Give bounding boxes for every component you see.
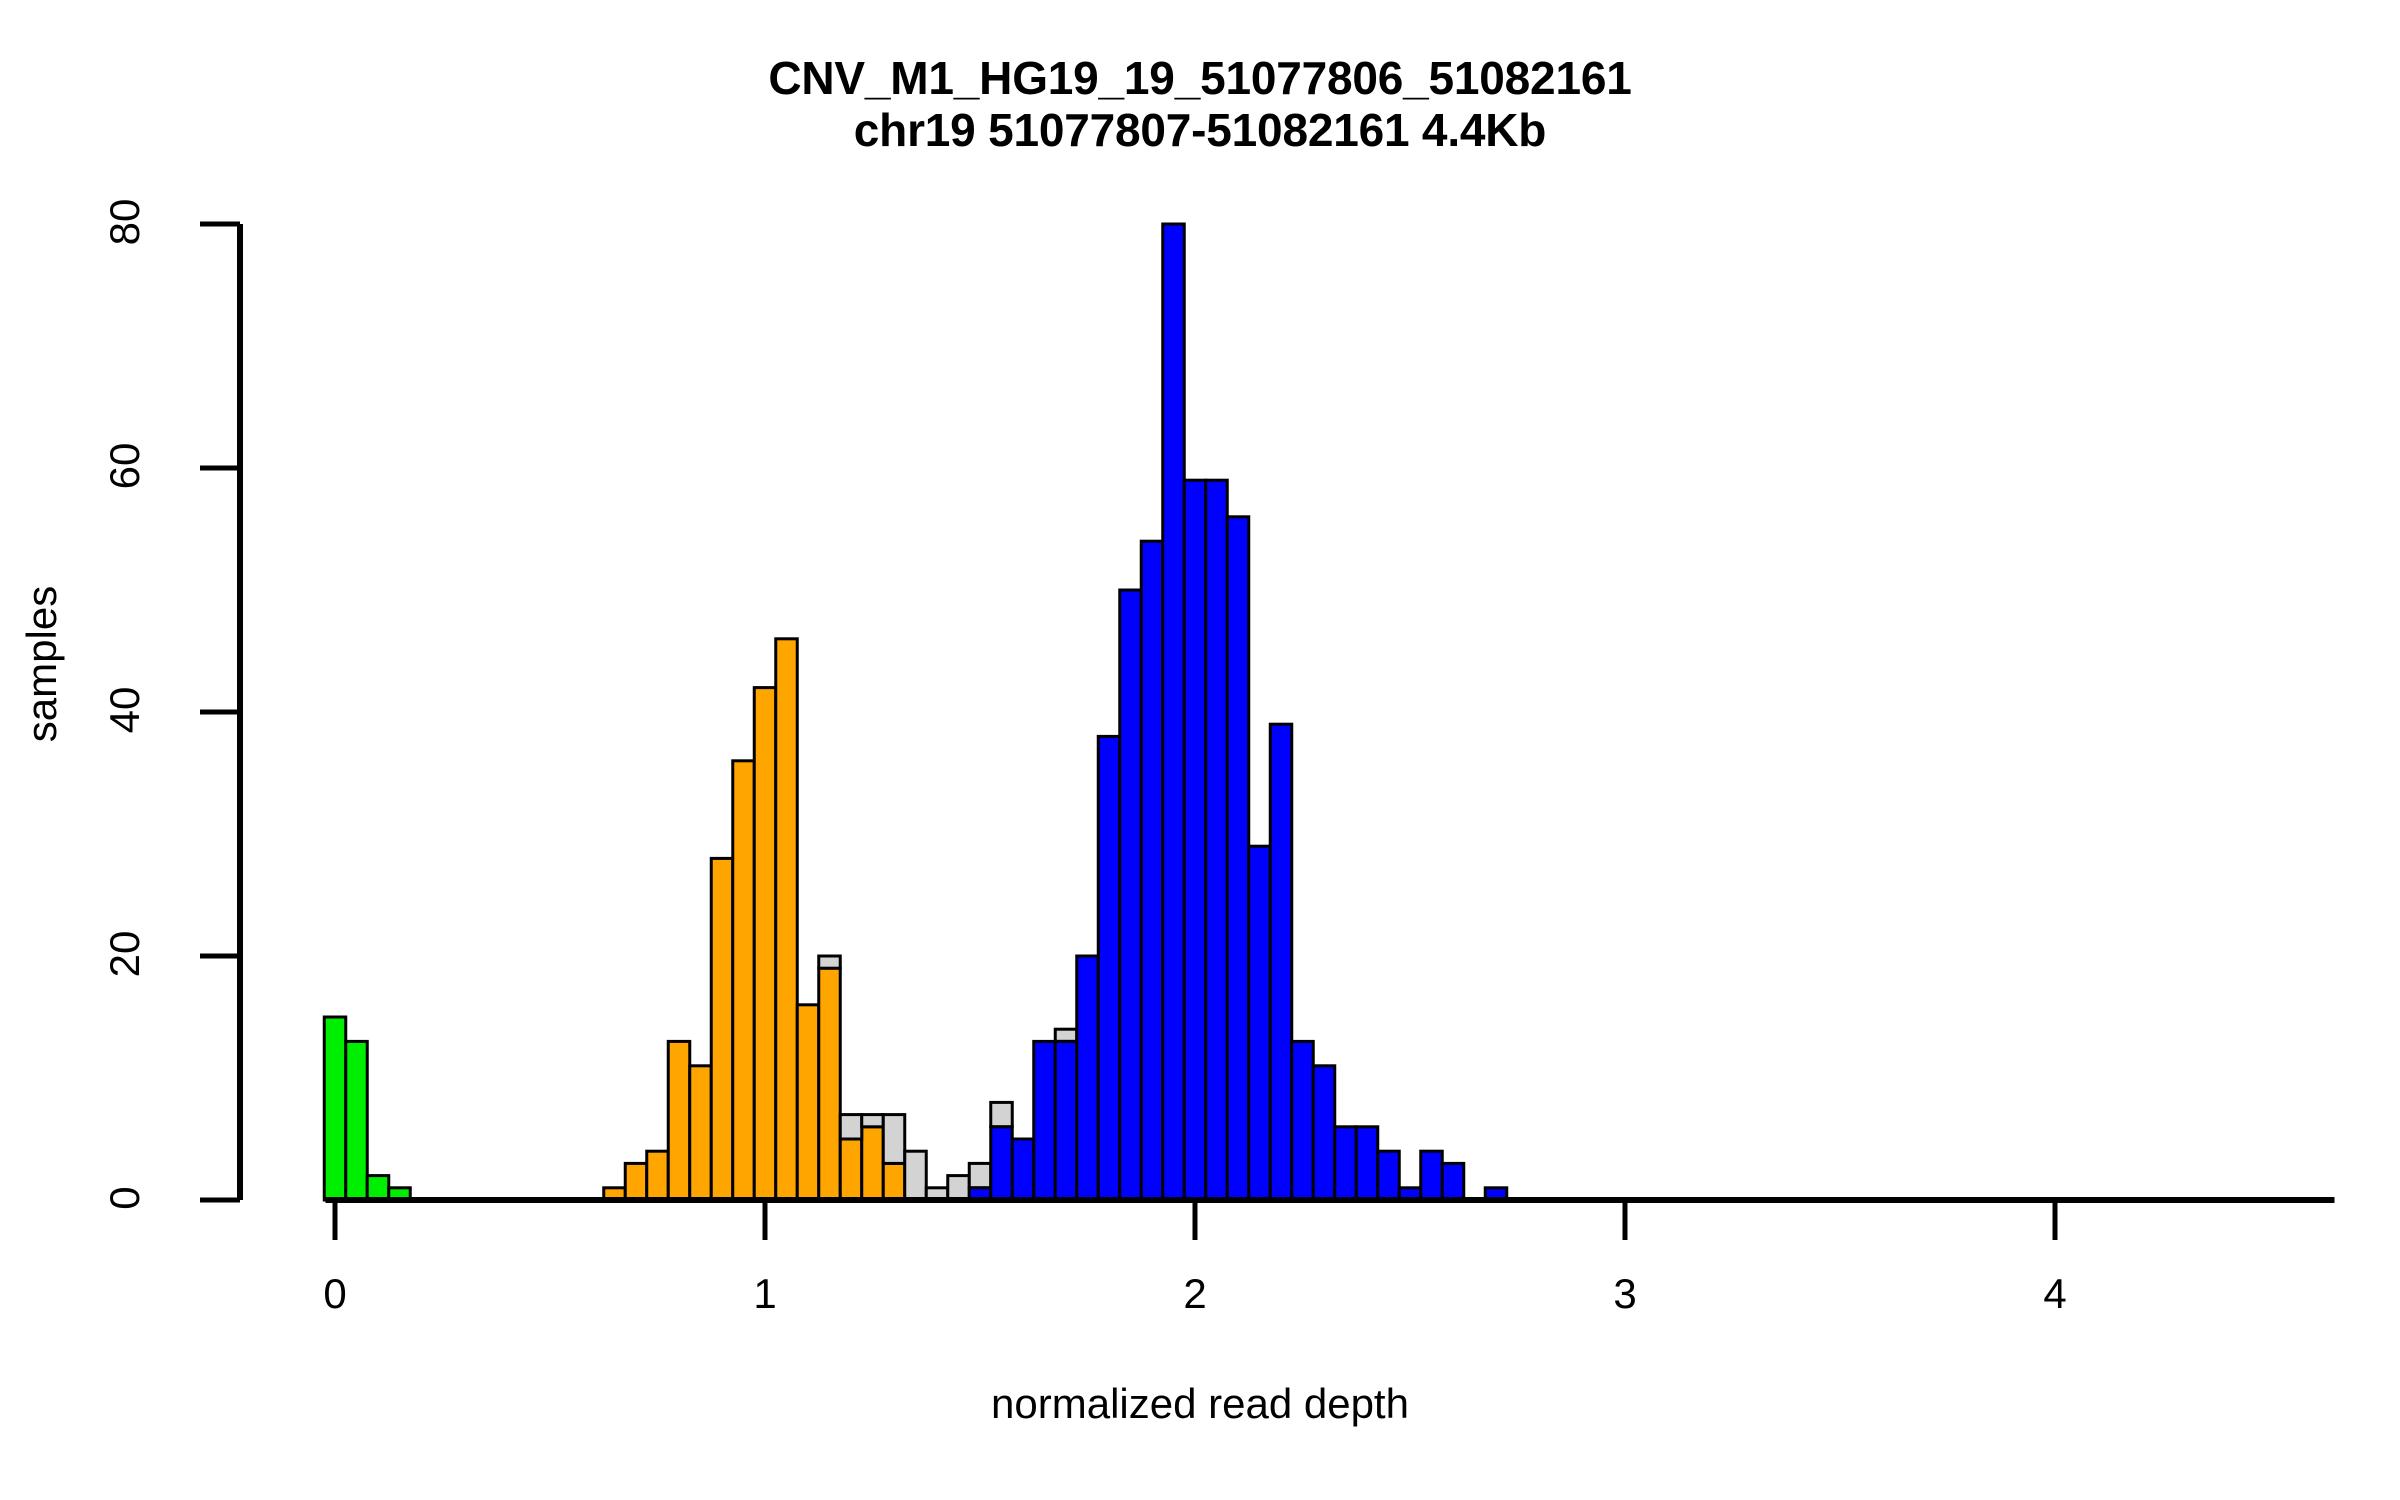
histogram-bar [324, 1017, 346, 1200]
x-tick-label: 1 [705, 1270, 825, 1318]
histogram-bar [1442, 1163, 1464, 1200]
y-tick-label: 80 [101, 162, 149, 282]
histogram-bar [862, 1115, 884, 1127]
histogram-bar [1184, 480, 1206, 1200]
histogram-bar [1292, 1041, 1314, 1200]
histogram-bar [1378, 1151, 1400, 1200]
histogram-bar [1055, 1029, 1077, 1041]
histogram-bar [797, 1005, 819, 1200]
histogram-bar [647, 1151, 669, 1200]
histogram-bar [367, 1176, 389, 1200]
histogram-bar [1012, 1139, 1034, 1200]
histogram-bar [1077, 956, 1099, 1200]
histogram-bar [1335, 1127, 1357, 1200]
histogram-bar [690, 1066, 712, 1200]
histogram-bar [1098, 736, 1120, 1200]
histogram-bar [862, 1127, 884, 1200]
histogram-bar [1313, 1066, 1335, 1200]
y-tick-label: 20 [101, 894, 149, 1014]
histogram-bar [711, 858, 733, 1200]
histogram-bar [948, 1176, 970, 1200]
histogram-bar [1055, 1041, 1077, 1200]
histogram-bar [840, 1139, 862, 1200]
y-tick-label: 60 [101, 406, 149, 526]
x-axis-label: normalized read depth [0, 1380, 2400, 1428]
histogram-bar [819, 956, 841, 968]
histogram-plot: CNV_M1_HG19_19_51077806_51082161 chr19 5… [0, 0, 2400, 1500]
histogram-bar [883, 1163, 905, 1200]
histogram-bar [1421, 1151, 1443, 1200]
x-tick-label: 4 [1995, 1270, 2115, 1318]
histogram-bar [840, 1115, 862, 1139]
histogram-bar [883, 1115, 905, 1164]
x-tick-label: 0 [275, 1270, 395, 1318]
histogram-bar [991, 1127, 1013, 1200]
histogram-bar [754, 688, 776, 1200]
histogram-bar [346, 1041, 368, 1200]
x-tick-label: 3 [1565, 1270, 1685, 1318]
histogram-bar [991, 1102, 1013, 1126]
histogram-bar [819, 968, 841, 1200]
histogram-bar [1270, 724, 1292, 1200]
histogram-bar [1163, 224, 1185, 1200]
bars-layer [324, 224, 1507, 1200]
histogram-bar [776, 639, 798, 1200]
histogram-bar [733, 761, 755, 1200]
y-axis-label: samples [18, 534, 66, 794]
histogram-bar [668, 1041, 690, 1200]
histogram-bar [1034, 1041, 1056, 1200]
histogram-bar [1249, 846, 1271, 1200]
x-tick-label: 2 [1135, 1270, 1255, 1318]
histogram-bar [905, 1151, 927, 1200]
histogram-bar [1120, 590, 1142, 1200]
histogram-bar [1141, 541, 1163, 1200]
histogram-bar [1206, 480, 1228, 1200]
histogram-bar [1227, 517, 1249, 1200]
histogram-bar [625, 1163, 647, 1200]
histogram-bar [969, 1163, 991, 1187]
histogram-bar [1356, 1127, 1378, 1200]
y-tick-label: 40 [101, 650, 149, 770]
y-tick-label: 0 [101, 1138, 149, 1258]
